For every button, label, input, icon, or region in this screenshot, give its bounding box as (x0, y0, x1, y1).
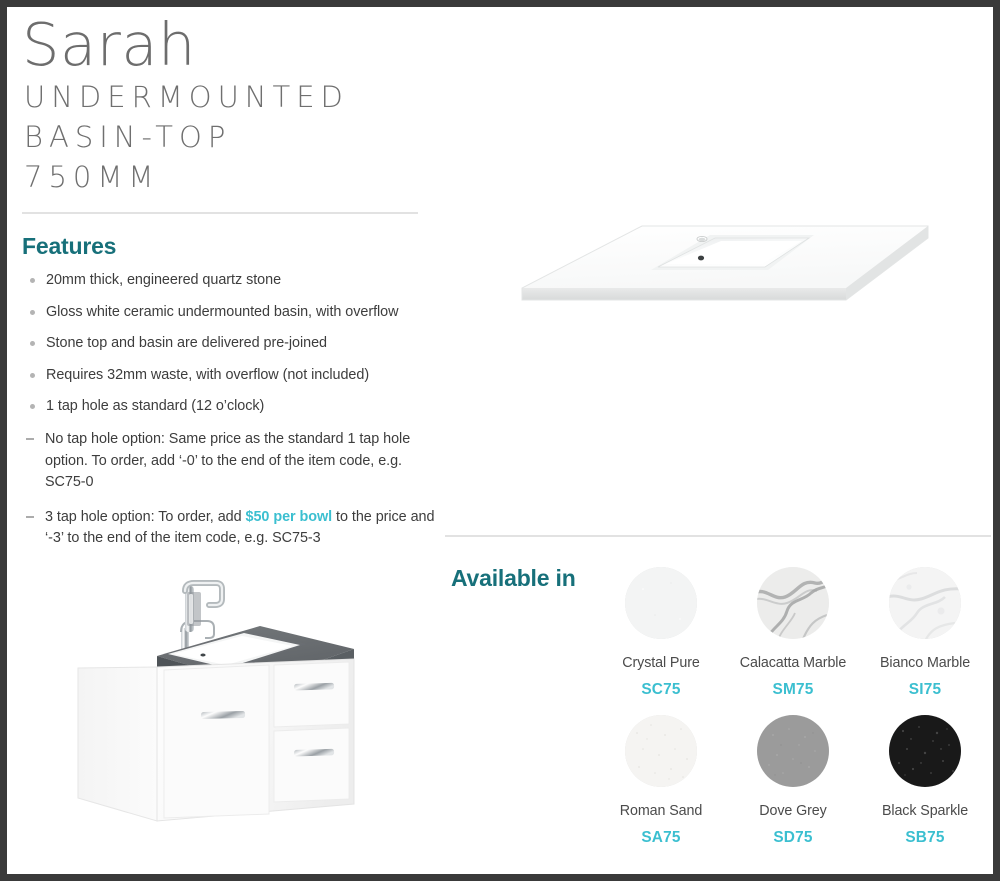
swatch-item-crystal-pure[interactable]: Crystal Pure SC75 (595, 557, 727, 705)
roman-sand-texture (625, 715, 697, 787)
swatch-item-calacatta-marble[interactable]: Calacatta Marble SM75 (727, 557, 859, 705)
divider-left (22, 212, 418, 214)
bullet-icon (30, 278, 35, 283)
swatch-item-dove-grey[interactable]: Dove Grey SD75 (727, 705, 859, 853)
available-in-section: Available in Crystal Pure SC75 (445, 557, 991, 867)
swatch-circle-icon (625, 715, 697, 787)
price-accent: $50 per bowl (246, 509, 333, 525)
swatch-code: SC75 (641, 681, 680, 699)
feature-item: 20mm thick, engineered quartz stone (22, 271, 442, 289)
feature-text: 20mm thick, engineered quartz stone (46, 272, 281, 288)
swatch-label: Black Sparkle (882, 803, 968, 820)
basin-top-product-image (514, 214, 934, 329)
product-subtitle: UNDERMOUNTED BASIN-TOP 750MM (24, 77, 452, 197)
option-text: No tap hole option: Same price as the st… (45, 431, 410, 490)
swatch-code: SA75 (641, 829, 680, 847)
swatch-code: SI75 (909, 681, 941, 699)
available-in-heading: Available in (451, 565, 576, 591)
bullet-icon (30, 310, 35, 315)
swatch-label: Dove Grey (759, 803, 826, 820)
basin-top-illustration (514, 214, 934, 329)
swatch-code: SD75 (773, 829, 812, 847)
dove-grey-texture (757, 715, 829, 787)
dash-icon: – (26, 429, 34, 451)
features-heading: Features (22, 233, 442, 259)
swatch-label: Crystal Pure (622, 655, 699, 672)
swatch-item-black-sparkle[interactable]: Black Sparkle SB75 (859, 705, 991, 853)
feature-text: Gloss white ceramic undermounted basin, … (46, 304, 398, 320)
swatch-item-bianco-marble[interactable]: Bianco Marble SI75 (859, 557, 991, 705)
tap-hole-option: – 3 tap hole option: To order, add $50 p… (22, 507, 442, 550)
bullet-icon (30, 404, 35, 409)
tap-hole-options-list: – No tap hole option: Same price as the … (22, 429, 442, 550)
feature-text: 1 tap hole as standard (12 o’clock) (46, 398, 264, 414)
swatch-circle-icon (889, 567, 961, 639)
swatch-circle-icon (757, 567, 829, 639)
swatch-label: Calacatta Marble (740, 655, 846, 672)
swatch-code: SB75 (905, 829, 944, 847)
feature-text: Stone top and basin are delivered pre-jo… (46, 335, 327, 351)
black-sparkle-texture (889, 715, 961, 787)
swatch-circle-icon (889, 715, 961, 787)
product-name: Sarah (22, 14, 452, 76)
vanity-illustration (64, 564, 374, 869)
swatch-code: SM75 (772, 681, 813, 699)
drawer-handle-top (294, 683, 334, 691)
calacatta-marble-texture (757, 567, 829, 639)
bullet-icon (30, 341, 35, 346)
tap-hole-option: – No tap hole option: Same price as the … (22, 429, 442, 494)
swatch-label: Roman Sand (620, 803, 702, 820)
door-handle (201, 711, 245, 719)
title-block: Sarah UNDERMOUNTED BASIN-TOP 750MM (22, 14, 452, 197)
bullet-icon (30, 373, 35, 378)
dash-icon: – (26, 507, 34, 529)
product-spec-page: Sarah UNDERMOUNTED BASIN-TOP 750MM Featu… (0, 0, 1000, 881)
bianco-marble-texture (889, 567, 961, 639)
swatch-item-roman-sand[interactable]: Roman Sand SA75 (595, 705, 727, 853)
feature-item: Stone top and basin are delivered pre-jo… (22, 334, 442, 352)
features-list: 20mm thick, engineered quartz stone Glos… (22, 271, 442, 415)
swatch-circle-icon (625, 567, 697, 639)
vanity-cabinet (78, 659, 354, 821)
divider-right (445, 535, 991, 537)
feature-item: 1 tap hole as standard (12 o’clock) (22, 397, 442, 415)
features-section: Features 20mm thick, engineered quartz s… (22, 233, 442, 563)
feature-item: Gloss white ceramic undermounted basin, … (22, 303, 442, 321)
swatch-label: Bianco Marble (880, 655, 970, 672)
drawer-handle-bottom (294, 749, 334, 757)
feature-item: Requires 32mm waste, with overflow (not … (22, 366, 442, 384)
vanity-unit-image (64, 564, 374, 869)
page-canvas: Sarah UNDERMOUNTED BASIN-TOP 750MM Featu… (9, 9, 991, 872)
swatch-circle-icon (757, 715, 829, 787)
crystal-pure-texture (625, 567, 697, 639)
feature-text: Requires 32mm waste, with overflow (not … (46, 367, 369, 383)
swatch-grid: Crystal Pure SC75 (595, 557, 991, 853)
option-text-before: 3 tap hole option: To order, add (45, 509, 246, 525)
